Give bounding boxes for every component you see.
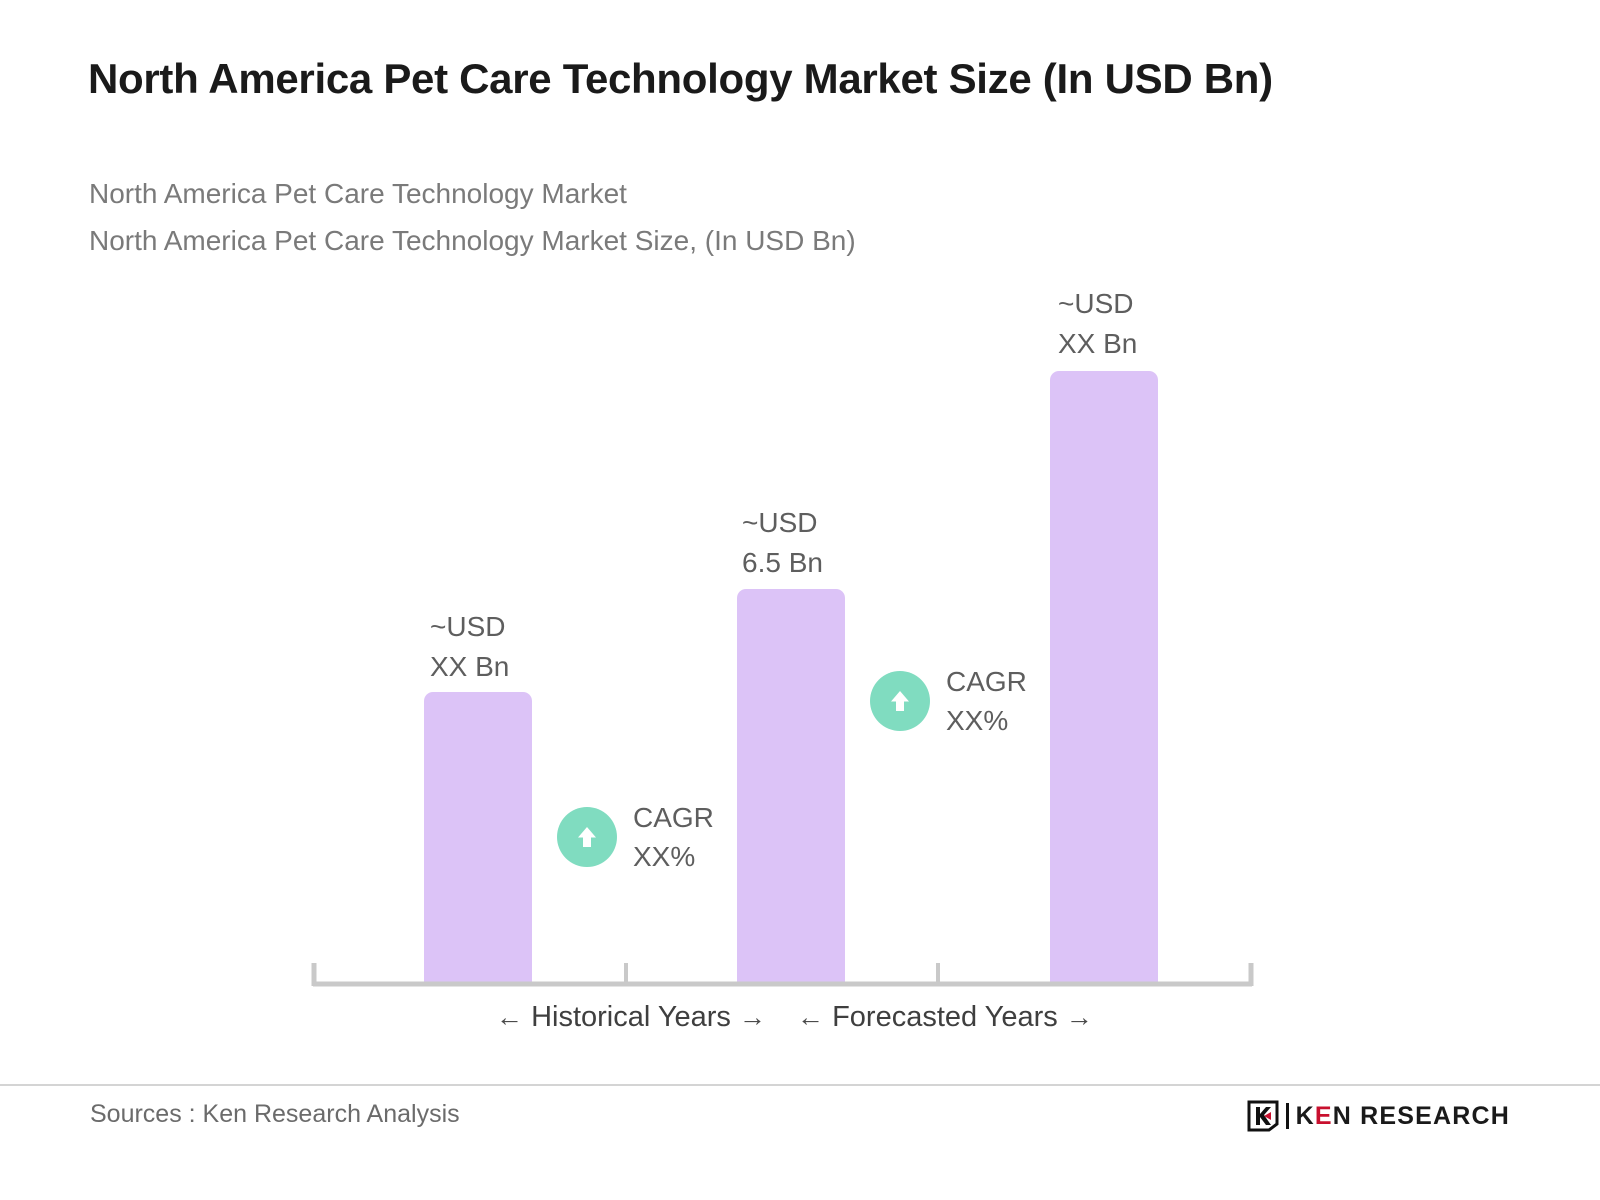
footer-divider bbox=[0, 1084, 1600, 1086]
left-arrow-icon: ← bbox=[797, 1002, 824, 1032]
bar-chart: ~USD XX Bn ~USD 6.5 Bn ~USD XX Bn CAGR X… bbox=[0, 0, 1600, 1070]
ken-research-mark-icon bbox=[1247, 1100, 1279, 1132]
logo-wordmark: KEN RESEARCH bbox=[1296, 1102, 1510, 1131]
logo-word-suffix: N RESEARCH bbox=[1333, 1102, 1510, 1130]
historical-years-text: Historical Years bbox=[531, 1001, 731, 1033]
forecasted-years-label: ← Forecasted Years → bbox=[797, 1001, 1093, 1034]
historical-years-label: ← Historical Years → bbox=[496, 1001, 766, 1034]
right-arrow-icon: → bbox=[739, 1002, 766, 1032]
ken-research-logo: KEN RESEARCH bbox=[1247, 1100, 1510, 1132]
forecasted-years-text: Forecasted Years bbox=[832, 1001, 1058, 1033]
logo-word-prefix: K bbox=[1296, 1102, 1315, 1130]
right-arrow-icon: → bbox=[1066, 1002, 1093, 1032]
logo-word-accent: E bbox=[1315, 1102, 1333, 1130]
logo-divider bbox=[1286, 1103, 1289, 1129]
left-arrow-icon: ← bbox=[496, 1002, 523, 1032]
x-axis bbox=[0, 0, 1600, 1070]
sources-text: Sources : Ken Research Analysis bbox=[90, 1100, 460, 1129]
